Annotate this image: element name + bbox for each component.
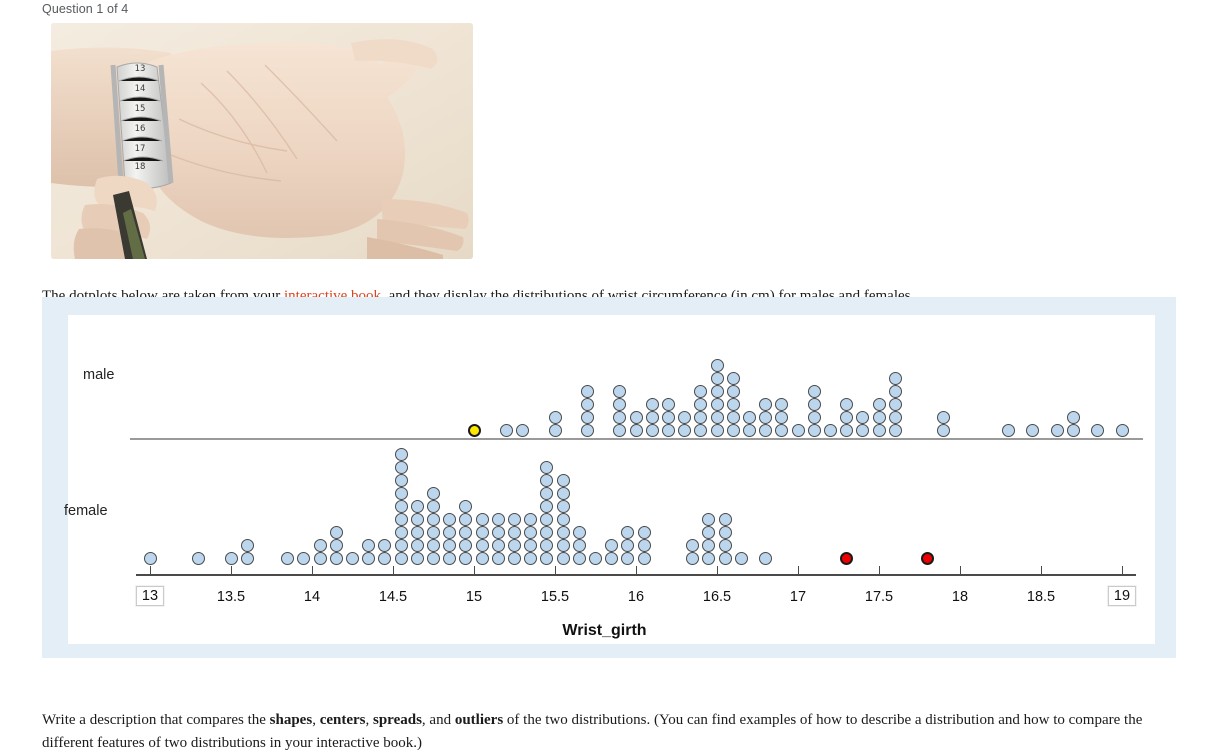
data-dot-female[interactable] bbox=[411, 513, 424, 526]
data-dot-female[interactable] bbox=[395, 513, 408, 526]
svg-text:18: 18 bbox=[135, 162, 146, 172]
prompt-text-2: , bbox=[312, 712, 320, 728]
data-dot-female[interactable] bbox=[330, 552, 343, 565]
data-dot-female[interactable] bbox=[573, 526, 586, 539]
data-dot-female[interactable] bbox=[719, 526, 732, 539]
data-dot-female[interactable] bbox=[557, 552, 570, 565]
x-tick bbox=[474, 566, 475, 575]
x-tick-label: 18.5 bbox=[1027, 589, 1055, 605]
data-dot-male[interactable] bbox=[711, 359, 724, 372]
data-dot-male[interactable] bbox=[873, 411, 886, 424]
prompt-bold-centers: centers bbox=[320, 712, 366, 728]
data-dot-female[interactable] bbox=[241, 552, 254, 565]
data-dot-female[interactable] bbox=[719, 539, 732, 552]
data-dot-male[interactable] bbox=[759, 398, 772, 411]
data-dot-male[interactable] bbox=[549, 411, 562, 424]
data-dot-male[interactable] bbox=[889, 372, 902, 385]
x-tick bbox=[555, 566, 556, 575]
x-tick-label: 14.5 bbox=[379, 589, 407, 605]
data-dot-female[interactable] bbox=[719, 513, 732, 526]
data-dot-male[interactable] bbox=[678, 411, 691, 424]
data-dot-female[interactable] bbox=[557, 513, 570, 526]
data-dot-female[interactable] bbox=[492, 539, 505, 552]
data-dot-male[interactable] bbox=[889, 398, 902, 411]
data-dot-female[interactable] bbox=[759, 552, 772, 565]
x-axis-range-handle[interactable]: 19 bbox=[1108, 586, 1136, 606]
svg-text:17: 17 bbox=[135, 144, 146, 154]
data-dot-female[interactable] bbox=[427, 539, 440, 552]
data-dot-female[interactable] bbox=[427, 487, 440, 500]
data-dot-female[interactable] bbox=[395, 552, 408, 565]
svg-text:15: 15 bbox=[135, 104, 146, 114]
prompt-text-4: , and bbox=[422, 712, 455, 728]
x-tick bbox=[231, 566, 232, 575]
data-dot-female[interactable] bbox=[735, 552, 748, 565]
data-dot-male[interactable] bbox=[711, 385, 724, 398]
data-dot-male[interactable] bbox=[824, 424, 837, 437]
data-dot-male[interactable] bbox=[808, 385, 821, 398]
data-dot-male[interactable] bbox=[711, 424, 724, 437]
data-dot-male[interactable] bbox=[808, 411, 821, 424]
data-dot-male[interactable] bbox=[500, 424, 513, 437]
data-dot-male[interactable] bbox=[840, 411, 853, 424]
data-dot-female[interactable] bbox=[492, 513, 505, 526]
prompt-text-3: , bbox=[366, 712, 374, 728]
data-dot-male[interactable] bbox=[662, 411, 675, 424]
outlier-dot-red[interactable] bbox=[840, 552, 853, 565]
highlighted-dot-yellow[interactable] bbox=[468, 424, 481, 437]
group-divider-line bbox=[130, 438, 1143, 440]
x-tick bbox=[1122, 566, 1123, 575]
data-dot-male[interactable] bbox=[1067, 424, 1080, 437]
data-dot-male[interactable] bbox=[743, 424, 756, 437]
prompt-paragraph: Write a description that compares the sh… bbox=[42, 709, 1162, 755]
x-axis-range-handle[interactable]: 13 bbox=[136, 586, 164, 606]
data-dot-female[interactable] bbox=[395, 539, 408, 552]
data-dot-female[interactable] bbox=[330, 526, 343, 539]
data-dot-female[interactable] bbox=[427, 513, 440, 526]
data-dot-male[interactable] bbox=[743, 411, 756, 424]
data-dot-male[interactable] bbox=[646, 411, 659, 424]
data-dot-female[interactable] bbox=[395, 487, 408, 500]
data-dot-male[interactable] bbox=[840, 398, 853, 411]
x-tick bbox=[960, 566, 961, 575]
data-dot-male[interactable] bbox=[662, 424, 675, 437]
svg-text:16: 16 bbox=[135, 124, 146, 134]
x-tick bbox=[1041, 566, 1042, 575]
data-dot-female[interactable] bbox=[241, 539, 254, 552]
data-dot-female[interactable] bbox=[395, 526, 408, 539]
data-dot-male[interactable] bbox=[711, 411, 724, 424]
x-tick-label: 15.5 bbox=[541, 589, 569, 605]
data-dot-female[interactable] bbox=[557, 539, 570, 552]
data-dot-female[interactable] bbox=[192, 552, 205, 565]
data-dot-female[interactable] bbox=[395, 474, 408, 487]
data-dot-male[interactable] bbox=[840, 424, 853, 437]
data-dot-female[interactable] bbox=[508, 526, 521, 539]
x-tick-label: 14 bbox=[304, 589, 320, 605]
x-tick bbox=[150, 566, 151, 575]
data-dot-male[interactable] bbox=[873, 398, 886, 411]
x-tick bbox=[393, 566, 394, 575]
data-dot-male[interactable] bbox=[1067, 411, 1080, 424]
data-dot-male[interactable] bbox=[792, 424, 805, 437]
data-dot-male[interactable] bbox=[759, 411, 772, 424]
data-dot-female[interactable] bbox=[476, 526, 489, 539]
prompt-bold-outliers: outliers bbox=[455, 712, 503, 728]
data-dot-female[interactable] bbox=[719, 552, 732, 565]
data-dot-female[interactable] bbox=[508, 539, 521, 552]
x-tick bbox=[717, 566, 718, 575]
svg-text:14: 14 bbox=[135, 84, 146, 94]
wrist-photo-illustration: 13 14 15 16 17 18 bbox=[51, 23, 473, 259]
data-dot-male[interactable] bbox=[646, 424, 659, 437]
dotplot-panel bbox=[42, 297, 1176, 658]
data-dot-female[interactable] bbox=[557, 487, 570, 500]
data-dot-male[interactable] bbox=[808, 398, 821, 411]
x-tick-label: 16.5 bbox=[703, 589, 731, 605]
data-dot-female[interactable] bbox=[395, 448, 408, 461]
x-tick-label: 13.5 bbox=[217, 589, 245, 605]
data-dot-female[interactable] bbox=[476, 552, 489, 565]
data-dot-female[interactable] bbox=[225, 552, 238, 565]
x-tick bbox=[798, 566, 799, 575]
data-dot-male[interactable] bbox=[516, 424, 529, 437]
data-dot-male[interactable] bbox=[1002, 424, 1015, 437]
data-dot-male[interactable] bbox=[1116, 424, 1129, 437]
data-dot-female[interactable] bbox=[395, 461, 408, 474]
data-dot-female[interactable] bbox=[427, 500, 440, 513]
data-dot-female[interactable] bbox=[411, 500, 424, 513]
data-dot-male[interactable] bbox=[727, 372, 740, 385]
data-dot-male[interactable] bbox=[646, 398, 659, 411]
group-label-female: female bbox=[64, 503, 108, 519]
data-dot-female[interactable] bbox=[492, 526, 505, 539]
data-dot-female[interactable] bbox=[638, 539, 651, 552]
data-dot-female[interactable] bbox=[476, 513, 489, 526]
data-dot-male[interactable] bbox=[727, 398, 740, 411]
data-dot-female[interactable] bbox=[346, 552, 359, 565]
outlier-dot-red[interactable] bbox=[921, 552, 934, 565]
data-dot-female[interactable] bbox=[395, 500, 408, 513]
data-dot-female[interactable] bbox=[476, 539, 489, 552]
data-dot-female[interactable] bbox=[492, 552, 505, 565]
data-dot-female[interactable] bbox=[411, 552, 424, 565]
data-dot-male[interactable] bbox=[678, 424, 691, 437]
group-label-male: male bbox=[83, 367, 114, 383]
data-dot-female[interactable] bbox=[589, 552, 602, 565]
x-tick bbox=[879, 566, 880, 575]
data-dot-female[interactable] bbox=[508, 552, 521, 565]
data-dot-male[interactable] bbox=[1051, 424, 1064, 437]
data-dot-male[interactable] bbox=[549, 424, 562, 437]
data-dot-male[interactable] bbox=[808, 424, 821, 437]
data-dot-female[interactable] bbox=[411, 539, 424, 552]
data-dot-male[interactable] bbox=[727, 385, 740, 398]
data-dot-male[interactable] bbox=[630, 411, 643, 424]
data-dot-male[interactable] bbox=[581, 385, 594, 398]
data-dot-male[interactable] bbox=[662, 398, 675, 411]
data-dot-female[interactable] bbox=[573, 539, 586, 552]
svg-text:13: 13 bbox=[135, 64, 146, 74]
data-dot-male[interactable] bbox=[727, 411, 740, 424]
data-dot-male[interactable] bbox=[581, 411, 594, 424]
prompt-bold-spreads: spreads bbox=[373, 712, 422, 728]
x-tick-label: 15 bbox=[466, 589, 482, 605]
question-counter: Question 1 of 4 bbox=[42, 2, 128, 16]
data-dot-female[interactable] bbox=[427, 526, 440, 539]
data-dot-male[interactable] bbox=[889, 424, 902, 437]
data-dot-female[interactable] bbox=[638, 552, 651, 565]
data-dot-female[interactable] bbox=[330, 539, 343, 552]
data-dot-female[interactable] bbox=[573, 552, 586, 565]
data-dot-female[interactable] bbox=[638, 526, 651, 539]
data-dot-female[interactable] bbox=[314, 552, 327, 565]
data-dot-female[interactable] bbox=[144, 552, 157, 565]
x-tick-label: 16 bbox=[628, 589, 644, 605]
x-tick-label: 18 bbox=[952, 589, 968, 605]
x-tick bbox=[636, 566, 637, 575]
data-dot-female[interactable] bbox=[557, 500, 570, 513]
data-dot-male[interactable] bbox=[711, 372, 724, 385]
prompt-bold-shapes: shapes bbox=[270, 712, 313, 728]
data-dot-male[interactable] bbox=[581, 424, 594, 437]
data-dot-female[interactable] bbox=[508, 513, 521, 526]
data-dot-female[interactable] bbox=[411, 526, 424, 539]
wrist-measurement-photo: 13 14 15 16 17 18 bbox=[51, 23, 473, 259]
x-tick-label: 17.5 bbox=[865, 589, 893, 605]
data-dot-male[interactable] bbox=[873, 424, 886, 437]
x-axis-title: Wrist_girth bbox=[0, 622, 1209, 640]
x-tick-label: 17 bbox=[790, 589, 806, 605]
data-dot-male[interactable] bbox=[889, 385, 902, 398]
data-dot-female[interactable] bbox=[557, 474, 570, 487]
data-dot-male[interactable] bbox=[727, 424, 740, 437]
data-dot-male[interactable] bbox=[581, 398, 594, 411]
x-tick bbox=[312, 566, 313, 575]
data-dot-male[interactable] bbox=[711, 398, 724, 411]
prompt-text-1: Write a description that compares the bbox=[42, 712, 270, 728]
data-dot-female[interactable] bbox=[427, 552, 440, 565]
data-dot-male[interactable] bbox=[889, 411, 902, 424]
data-dot-male[interactable] bbox=[759, 424, 772, 437]
data-dot-female[interactable] bbox=[314, 539, 327, 552]
data-dot-female[interactable] bbox=[557, 526, 570, 539]
data-dot-male[interactable] bbox=[630, 424, 643, 437]
